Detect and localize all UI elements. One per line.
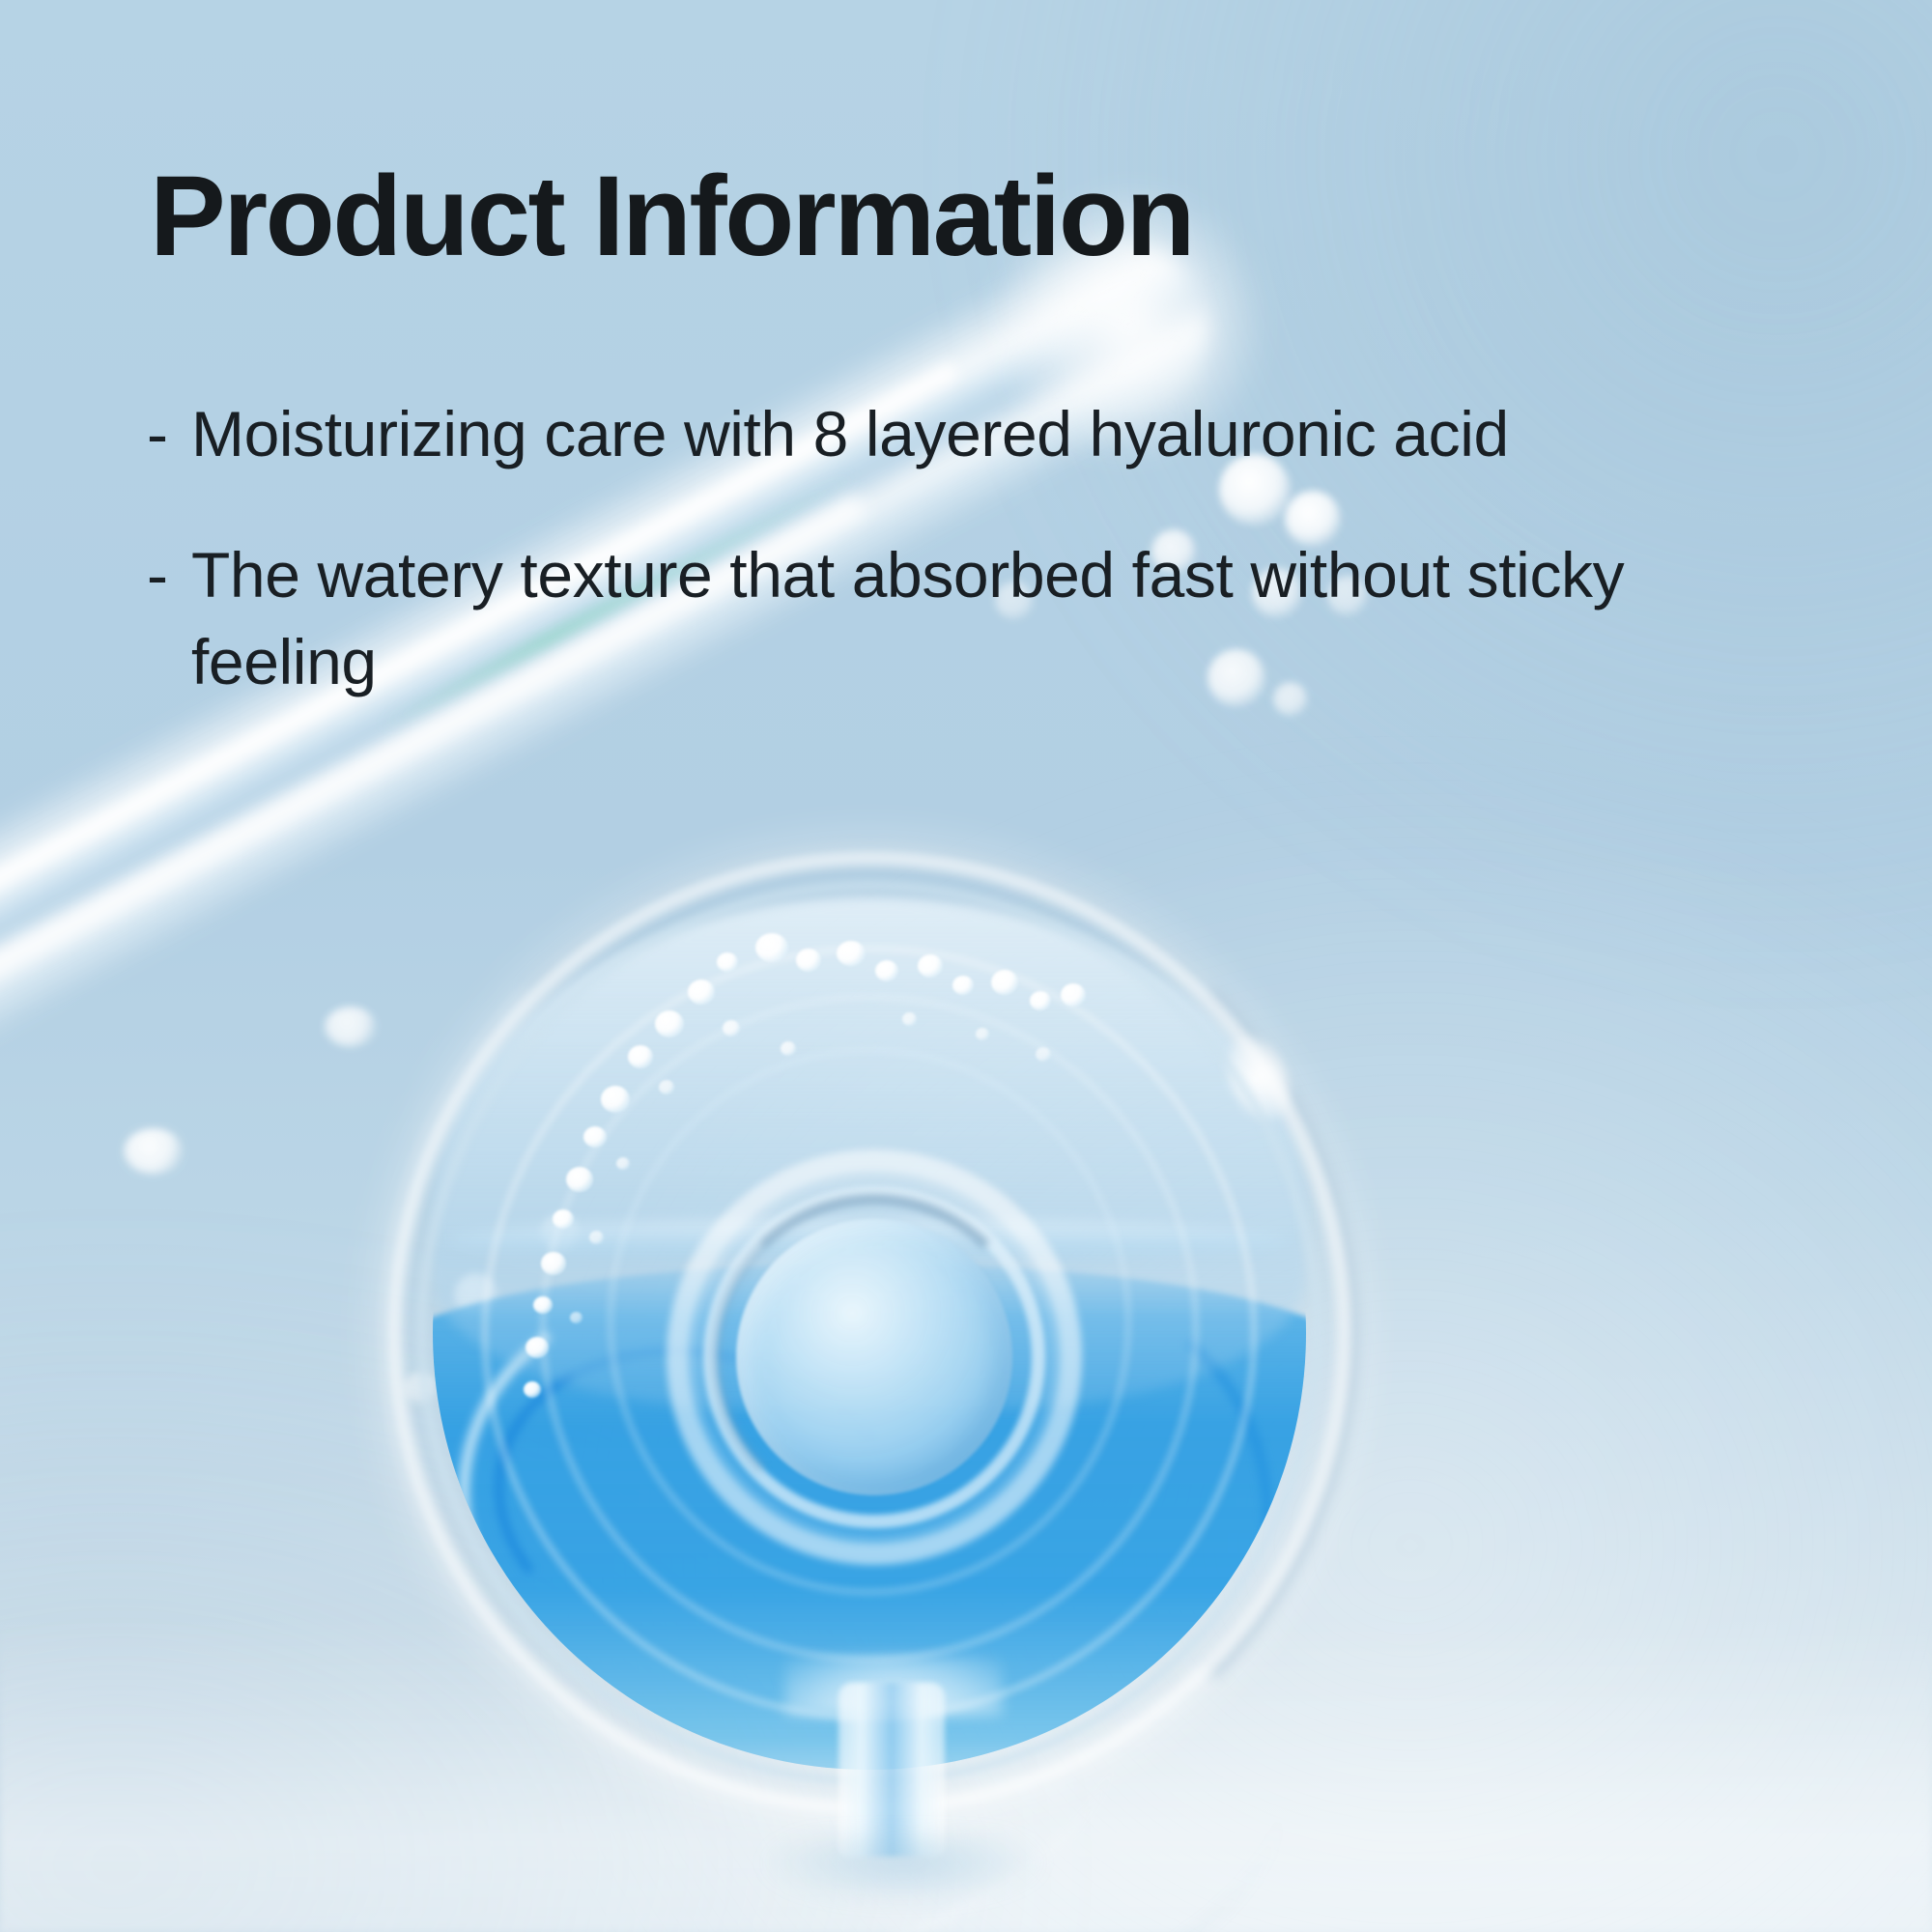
feature-list-item-text: Moisturizing care with 8 layered hyaluro… [191,391,1654,478]
feature-list-item: - Moisturizing care with 8 layered hyalu… [147,391,1654,478]
product-information-card: Product Information - Moisturizing care … [0,0,1932,1932]
feature-list: - Moisturizing care with 8 layered hyalu… [147,391,1654,759]
page-title: Product Information [150,159,1193,273]
vessel-stem [838,1683,945,1857]
feature-list-item: - The watery texture that absorbed fast … [147,532,1654,706]
bokeh-highlight [325,1007,377,1047]
bokeh-highlight [124,1128,184,1175]
feature-list-item-text: The watery texture that absorbed fast wi… [191,532,1654,706]
bullet-dash-marker: - [147,532,191,619]
vessel-rim-inner [417,881,1321,1785]
bullet-dash-marker: - [147,391,191,478]
product-photograph [0,0,1932,1932]
vessel-base-reflection [763,1835,1043,1903]
